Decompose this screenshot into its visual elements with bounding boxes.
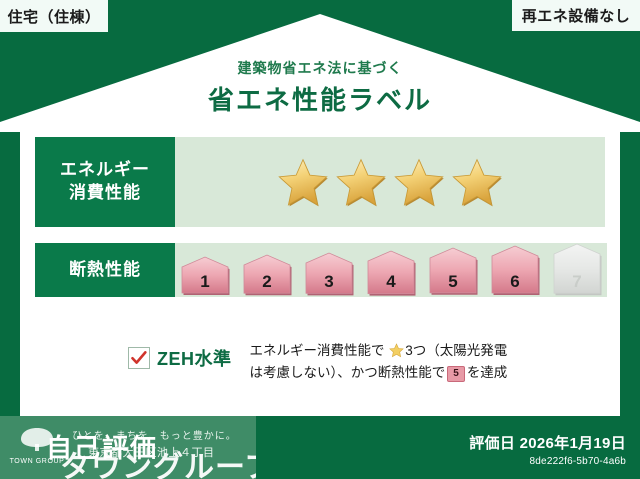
insulation-level-badge: 7	[547, 243, 607, 297]
zeh-description: エネルギー消費性能で 3つ（太陽光発電 は考慮しない）、かつ断熱性能で5を達成	[250, 340, 508, 383]
star-filled-icon	[335, 157, 387, 207]
zeh-standard-note: ZEH水準 エネルギー消費性能で 3つ（太陽光発電 は考慮しない）、かつ断熱性能…	[128, 340, 507, 383]
insulation-performance-label-cell: 断熱性能	[35, 243, 175, 297]
zeh-desc-line1-after: 3つ（太陽光発電	[405, 343, 507, 358]
star-filled-icon	[277, 157, 329, 207]
house-icon-empty	[547, 243, 607, 297]
house-icon-filled	[485, 245, 545, 297]
star-filled-icon	[393, 157, 445, 207]
energy-label-line1: エネルギー	[60, 160, 150, 179]
energy-performance-label: 住宅（住棟） 再エネ設備なし 建築物省エネ法に基づく 省エネ性能ラベル エネルギ…	[0, 0, 640, 479]
brand-watermark: TOWN GROUP ひとを、まちを、もっと豊かに。 タウングループ 東京都大田…	[0, 416, 256, 479]
insulation-level-badge: 3	[299, 252, 359, 297]
check-icon	[130, 349, 148, 367]
inline-insulation-badge: 5	[447, 366, 465, 382]
insulation-level-badge: 1	[175, 256, 235, 297]
energy-label-line2: 消費性能	[69, 183, 141, 202]
inline-star-icon	[389, 343, 404, 358]
energy-performance-label-cell: エネルギー 消費性能	[35, 137, 175, 227]
insulation-performance-row: 断熱性能 1234567	[35, 243, 605, 297]
energy-performance-row: エネルギー 消費性能	[35, 137, 605, 227]
star-filled-icon	[451, 157, 503, 207]
zeh-description-line2: は考慮しない）、かつ断熱性能で5を達成	[250, 362, 508, 384]
zeh-checkbox[interactable]	[128, 347, 150, 369]
zeh-description-line1: エネルギー消費性能で 3つ（太陽光発電	[250, 340, 508, 362]
insulation-level-badge: 2	[237, 254, 297, 297]
star-rating	[277, 157, 503, 207]
house-icon-filled	[299, 252, 359, 297]
insulation-level-scale: 1234567	[175, 243, 607, 297]
building-type-tag: 住宅（住棟）	[0, 0, 108, 32]
house-icon-filled	[175, 256, 235, 297]
evaluation-id: 8de222f6-5b70-4a6b	[469, 456, 626, 467]
self-evaluation-stamp: 自己評価	[46, 428, 158, 465]
zeh-check-group: ZEH水準	[128, 340, 232, 371]
house-icon-filled	[237, 254, 297, 297]
evaluation-info: 評価日 2026年1月19日 8de222f6-5b70-4a6b	[469, 432, 626, 467]
zeh-desc-line2-after: を達成	[467, 365, 508, 380]
label-subtitle: 建築物省エネ法に基づく	[0, 58, 640, 78]
label-title: 省エネ性能ラベル	[0, 80, 640, 117]
renewable-equipment-tag: 再エネ設備なし	[512, 0, 640, 31]
zeh-desc-line2-before: は考慮しない）、かつ断熱性能で	[250, 365, 446, 380]
house-icon-filled	[361, 250, 421, 298]
evaluation-date: 評価日 2026年1月19日	[469, 432, 626, 453]
zeh-standard-title: ZEH水準	[157, 345, 232, 371]
evaluation-date-label: 評価日	[469, 435, 515, 452]
evaluation-date-value: 2026年1月19日	[520, 435, 626, 452]
energy-performance-value-cell	[175, 137, 605, 227]
insulation-level-badge: 4	[361, 250, 421, 298]
insulation-performance-value-cell: 1234567	[175, 243, 607, 297]
zeh-desc-line1-before: エネルギー消費性能で	[250, 343, 385, 358]
insulation-level-badge: 5	[423, 247, 483, 297]
insulation-level-badge: 6	[485, 245, 545, 297]
house-icon-filled	[423, 247, 483, 297]
